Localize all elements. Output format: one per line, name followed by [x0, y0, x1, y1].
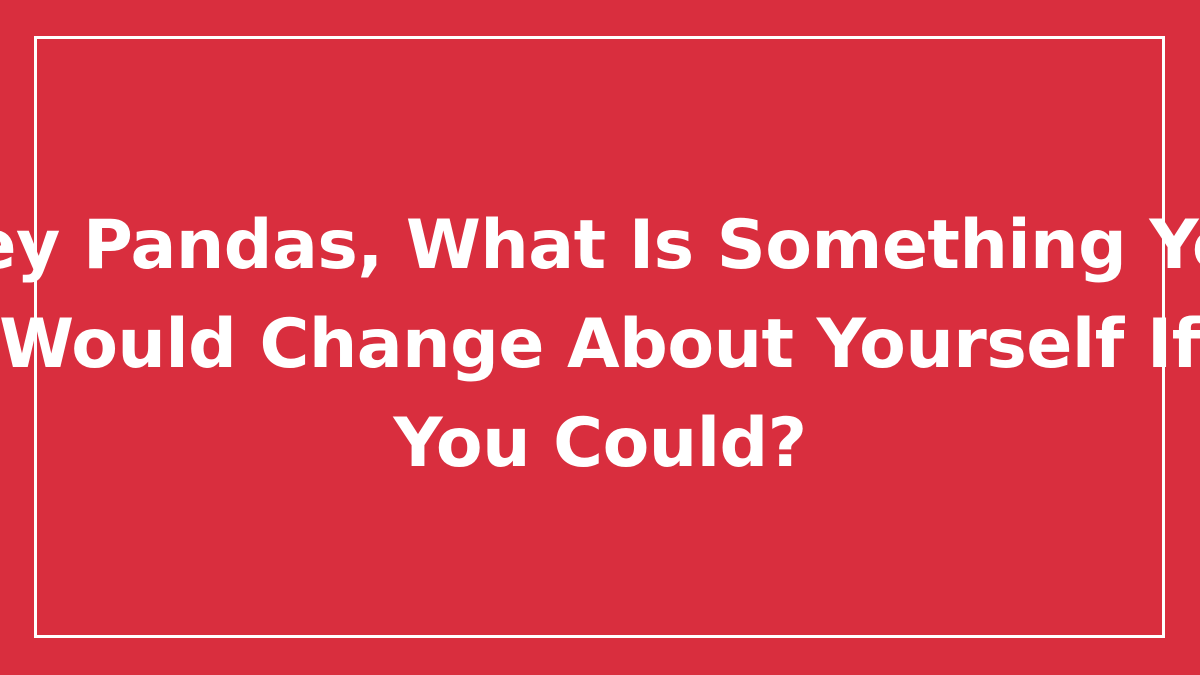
headline-line-3: You Could?	[0, 394, 1200, 493]
page-title: Hey Pandas, What Is Something You Would …	[0, 196, 1200, 493]
headline-line-2: Would Change About Yourself If	[0, 295, 1200, 394]
headline-line-1: Hey Pandas, What Is Something You	[0, 196, 1200, 295]
poster-canvas: Hey Pandas, What Is Something You Would …	[0, 0, 1200, 675]
